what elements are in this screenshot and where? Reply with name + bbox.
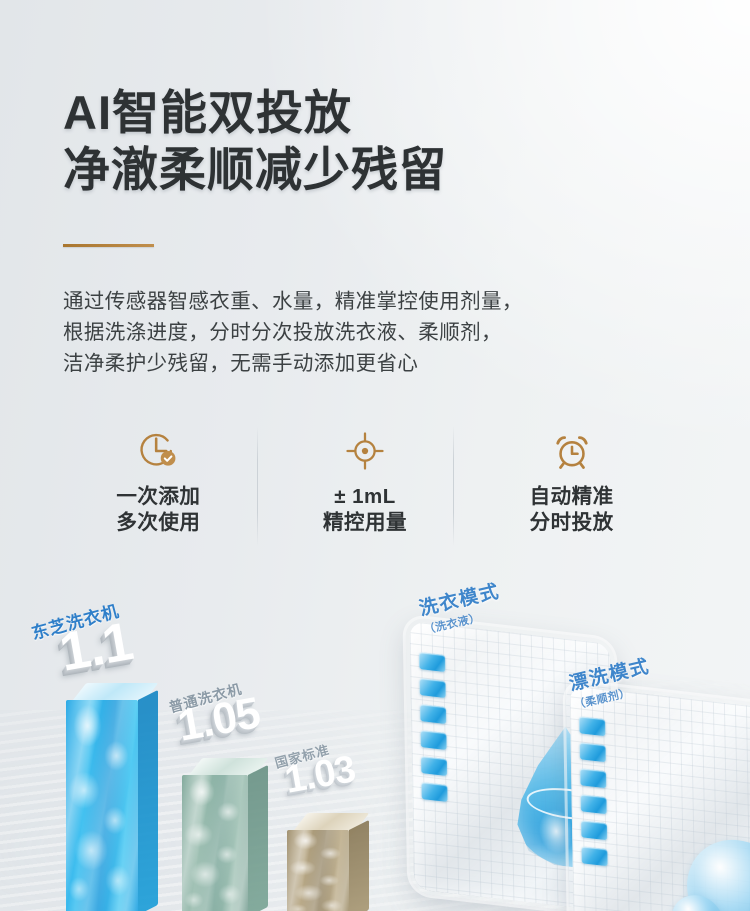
level-segment xyxy=(421,756,447,776)
description-line-2: 根据洗涤进度，分时分次投放洗衣液、柔顺剂， xyxy=(63,317,703,348)
feature-divider xyxy=(257,426,258,546)
description-line-3: 洁净柔护少残留，无需手动添加更省心 xyxy=(63,348,703,379)
product-visual-scene: 1.1 1.05 1.03 东芝洗衣机 普通洗衣机 国家标准 xyxy=(0,560,750,911)
panel-surface xyxy=(566,681,750,911)
level-segment xyxy=(581,820,607,840)
feature-label-line-2: 精控用量 xyxy=(323,510,407,536)
feature-label-line-2: 多次使用 xyxy=(116,510,200,536)
feature-item-precise-dose: ± 1mL 精控用量 xyxy=(262,424,469,536)
description-text: 通过传感器智感衣重、水量，精准掌控使用剂量， 根据洗涤进度，分时分次投放洗衣液、… xyxy=(63,286,703,379)
bar-side-face xyxy=(349,820,369,911)
clock-check-icon xyxy=(136,424,180,478)
panel-rinse-mode xyxy=(566,681,750,911)
bar-toshiba xyxy=(66,700,138,911)
bar-gloss xyxy=(287,830,349,911)
feature-label-line-1: 一次添加 xyxy=(116,484,200,510)
level-segment xyxy=(580,768,606,788)
bar-ordinary-washer xyxy=(182,775,248,911)
level-segment xyxy=(579,716,605,736)
feature-label-group: 一次添加 多次使用 xyxy=(116,484,200,536)
level-segment xyxy=(420,678,446,698)
feature-label-group: 自动精准 分时投放 xyxy=(530,484,614,536)
feature-label-line-1: ± 1mL xyxy=(323,484,407,510)
product-feature-page: AI智能双投放 净澈柔顺减少残留 通过传感器智感衣重、水量，精准掌控使用剂量， … xyxy=(0,0,750,911)
level-segment xyxy=(581,846,607,866)
alarm-clock-icon xyxy=(550,424,594,478)
level-segment xyxy=(580,742,606,762)
dose-level-indicator xyxy=(579,716,608,866)
bar-gloss xyxy=(66,700,138,911)
description-line-1: 通过传感器智感衣重、水量，精准掌控使用剂量， xyxy=(63,286,703,317)
headline-line-2: 净澈柔顺减少残留 xyxy=(63,141,703,198)
accent-divider xyxy=(63,244,154,247)
level-segment xyxy=(421,782,447,802)
bubbles-icon xyxy=(668,816,750,911)
feature-row: 一次添加 多次使用 ± 1mL 精控用量 xyxy=(55,424,675,550)
feature-label-group: ± 1mL 精控用量 xyxy=(323,484,407,536)
target-icon xyxy=(344,424,386,478)
feature-divider xyxy=(453,426,454,546)
level-segment xyxy=(419,652,445,672)
dose-level-indicator xyxy=(419,652,448,802)
feature-label-line-1: 自动精准 xyxy=(530,484,614,510)
feature-label-line-2: 分时投放 xyxy=(530,510,614,536)
bar-side-face xyxy=(138,690,158,911)
page-title: AI智能双投放 净澈柔顺减少残留 xyxy=(63,84,703,198)
bar-gloss xyxy=(182,775,248,911)
feature-item-auto-timed: 自动精准 分时投放 xyxy=(468,424,675,536)
feature-item-one-time-add: 一次添加 多次使用 xyxy=(55,424,262,536)
level-segment xyxy=(420,704,446,724)
bar-side-face xyxy=(248,765,268,911)
bar-national-standard xyxy=(287,830,349,911)
level-segment xyxy=(580,794,606,814)
headline-line-1: AI智能双投放 xyxy=(63,84,703,141)
level-segment xyxy=(420,730,446,750)
